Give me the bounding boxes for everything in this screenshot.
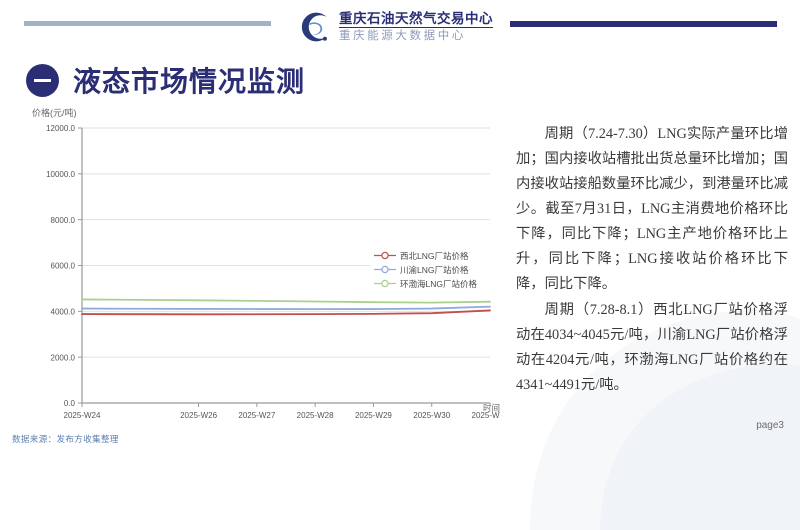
legend-marker-northwest bbox=[374, 250, 396, 261]
dash-bullet-icon bbox=[26, 64, 59, 97]
commentary-paragraph-2: 周期（7.28-8.1）西北LNG厂站价格浮动在4034~4045元/吨，川渝L… bbox=[516, 298, 788, 398]
legend-label-bohai: 环渤海LNG厂站价格 bbox=[400, 278, 477, 290]
svg-text:2025-W26: 2025-W26 bbox=[180, 411, 217, 420]
legend-item-chuanyu[interactable]: 川渝LNG厂站价格 bbox=[374, 263, 514, 276]
svg-text:10000.0: 10000.0 bbox=[46, 170, 75, 179]
svg-text:8000.0: 8000.0 bbox=[51, 216, 76, 225]
legend-label-chuanyu: 川渝LNG厂站价格 bbox=[400, 264, 468, 276]
page-header: 重庆石油天然气交易中心 重庆能源大数据中心 bbox=[0, 0, 800, 58]
svg-text:2025-W28: 2025-W28 bbox=[297, 411, 334, 420]
data-source-note: 数据来源：发布方收集整理 bbox=[12, 433, 119, 445]
svg-text:4000.0: 4000.0 bbox=[51, 308, 76, 317]
legend-item-northwest[interactable]: 西北LNG厂站价格 bbox=[374, 249, 514, 262]
svg-text:2025-W31: 2025-W31 bbox=[472, 411, 500, 420]
svg-text:0.0: 0.0 bbox=[64, 399, 76, 408]
legend-item-bohai[interactable]: 环渤海LNG厂站价格 bbox=[374, 277, 514, 290]
page-title: 液态市场情况监测 bbox=[73, 60, 305, 100]
brand-logo: 重庆石油天然气交易中心 重庆能源大数据中心 bbox=[297, 4, 497, 50]
page-number: page3 bbox=[756, 420, 784, 431]
y-axis-label: 价格(元/吨) bbox=[32, 106, 77, 119]
svg-text:2025-W30: 2025-W30 bbox=[413, 411, 450, 420]
legend-label-northwest: 西北LNG厂站价格 bbox=[400, 250, 468, 262]
brand-title-cn: 重庆石油天然气交易中心 bbox=[339, 12, 493, 29]
brand-subtitle-cn: 重庆能源大数据中心 bbox=[339, 31, 493, 43]
svg-text:2025-W24: 2025-W24 bbox=[64, 411, 101, 420]
section-title-row: 液态市场情况监测 bbox=[26, 60, 305, 100]
svg-text:2025-W27: 2025-W27 bbox=[238, 411, 275, 420]
commentary-paragraph-1: 周期（7.24-7.30）LNG实际产量环比增加；国内接收站槽批出货总量环比增加… bbox=[516, 122, 788, 297]
svg-text:2025-W29: 2025-W29 bbox=[355, 411, 392, 420]
commentary-column: 周期（7.24-7.30）LNG实际产量环比增加；国内接收站槽批出货总量环比增加… bbox=[516, 122, 788, 398]
svg-text:6000.0: 6000.0 bbox=[51, 262, 76, 271]
price-line-chart: 价格(元/吨) 时间 12000.010000.08000.06000.0400… bbox=[16, 106, 500, 436]
chart-legend: 西北LNG厂站价格 川渝LNG厂站价格 环渤海LNG厂站价格 bbox=[370, 246, 518, 294]
header-rule-right bbox=[510, 21, 777, 27]
legend-marker-chuanyu bbox=[374, 264, 396, 275]
legend-marker-bohai bbox=[374, 278, 396, 289]
header-rule-left bbox=[24, 21, 271, 26]
svg-text:2000.0: 2000.0 bbox=[51, 353, 76, 362]
swirl-logo-icon bbox=[297, 9, 333, 45]
svg-text:12000.0: 12000.0 bbox=[46, 124, 75, 133]
